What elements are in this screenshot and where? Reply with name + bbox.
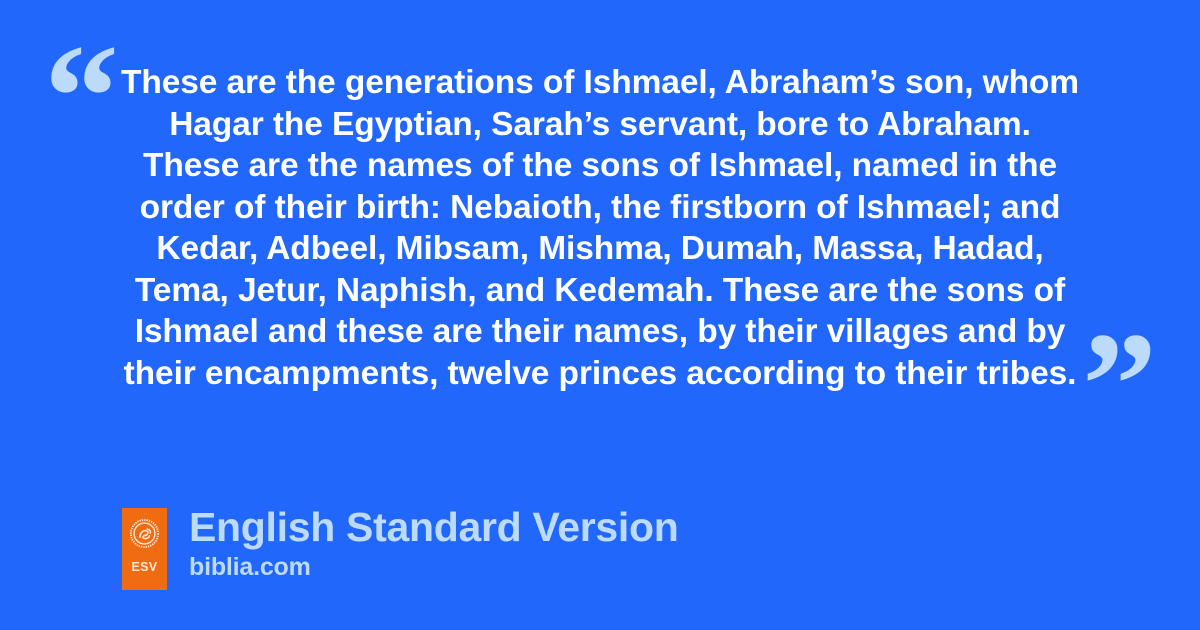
site-url-label[interactable]: biblia.com [189,552,678,582]
closing-quotation-mark-icon: ” [1082,310,1157,460]
esv-logo-tile[interactable]: ESV [122,508,167,590]
brand-footer[interactable]: ESV English Standard Version biblia.com [122,508,678,590]
esv-logo-label: ESV [132,561,158,574]
brand-text-group: English Standard Version biblia.com [189,508,678,582]
scripture-quote-text: These are the generations of Ishmael, Ab… [96,62,1104,394]
bible-version-title: English Standard Version [189,504,678,550]
quote-card: “ These are the generations of Ishmael, … [0,0,1200,630]
quote-block: “ These are the generations of Ishmael, … [0,0,1200,470]
esv-seal-emblem-icon [130,519,159,548]
